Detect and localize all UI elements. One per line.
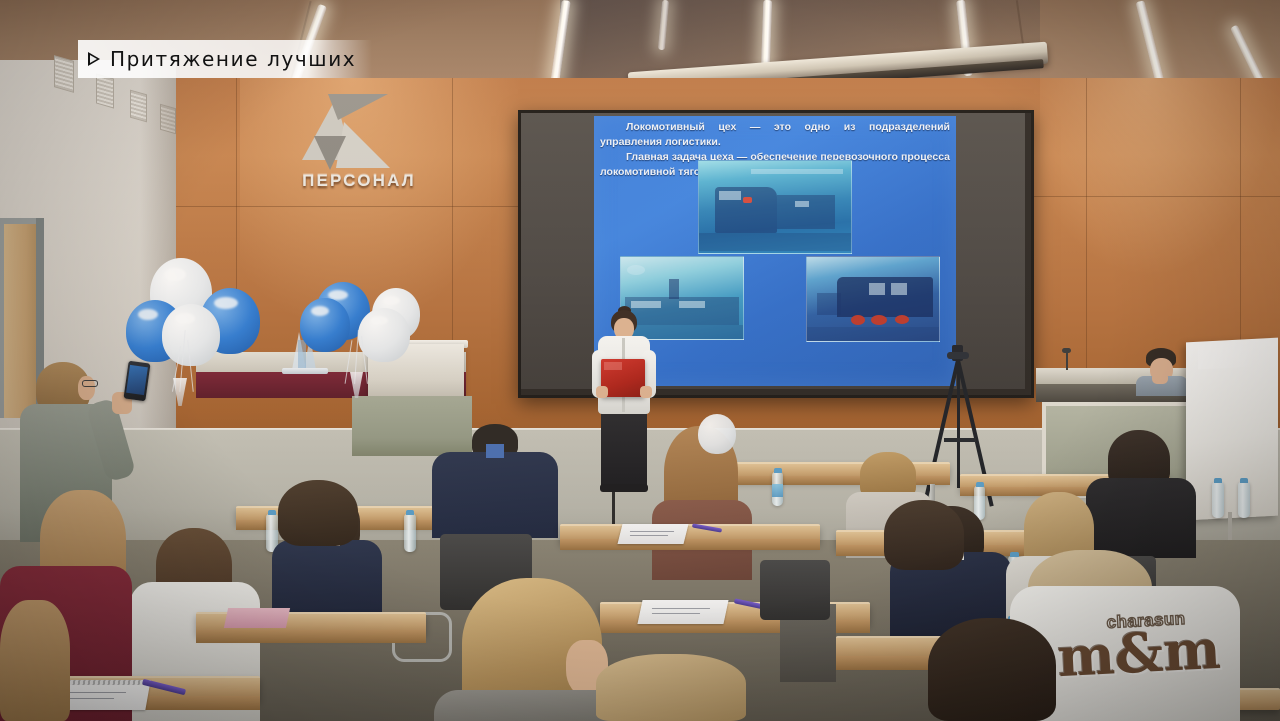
- camera-tripod-knob: [947, 352, 969, 359]
- camera-tripod-leg: [957, 360, 960, 488]
- slide-paragraph-1: Локомотивный цех — это одно из подраздел…: [600, 120, 950, 150]
- judge-hand: [1152, 372, 1168, 384]
- door[interactable]: [4, 224, 40, 418]
- desk-edge: [560, 539, 820, 550]
- audience-hair: [596, 654, 746, 721]
- sweatshirt-text-line2: m&m: [1045, 621, 1234, 685]
- notepad-line: [652, 613, 700, 614]
- chair-back[interactable]: [760, 560, 830, 620]
- video-frame: ПЕРСОНАЛ Локомотивный цех — это одно из …: [0, 0, 1280, 721]
- play-triangle-icon: [88, 52, 101, 67]
- notepad-line: [652, 608, 710, 609]
- presenter-skirt: [601, 410, 647, 488]
- microphone-head: [1062, 348, 1071, 353]
- smartphone-screen: [126, 365, 148, 395]
- audience-hair: [884, 500, 964, 570]
- notepad-line: [630, 531, 674, 532]
- panel-seam: [1240, 78, 1241, 378]
- panel-seam: [1028, 196, 1280, 197]
- audience-hair: [928, 618, 1056, 721]
- presenter-folder-highlight: [604, 362, 622, 370]
- bottle-cap: [1214, 478, 1222, 483]
- water-bottle: [404, 514, 416, 552]
- logo-shard: [328, 94, 388, 120]
- bottle-cap: [268, 510, 276, 515]
- audience-hair: [0, 600, 70, 721]
- shunting-locomotive-photo: [806, 256, 940, 342]
- bottle-label: [772, 484, 783, 497]
- panel-seam: [452, 78, 453, 368]
- camera-tripod-spreader: [944, 438, 976, 442]
- panel-seam: [176, 206, 518, 207]
- freight-train-yard-photo: [620, 256, 744, 340]
- wall-light-glow: [1040, 78, 1280, 278]
- photographer-glasses: [82, 380, 98, 387]
- notepad-line: [630, 535, 668, 536]
- flipchart-glare: [1198, 343, 1254, 370]
- audience-jacket: [1086, 478, 1196, 558]
- watermark-text: Притяжение лучших: [110, 49, 356, 69]
- ceiling-vent: [96, 73, 114, 108]
- notepad: [637, 600, 728, 624]
- balloon-white: [162, 304, 220, 366]
- presenter-left-hand: [596, 386, 608, 398]
- locomotive-depot-interior-photo: [698, 160, 852, 254]
- bottle-cap: [1240, 478, 1248, 483]
- presenter-shoes: [600, 484, 648, 492]
- wall-logo-brand-text: ПЕРСОНАЛ: [286, 172, 432, 189]
- notepad: [618, 524, 689, 544]
- water-bottle: [1238, 482, 1250, 518]
- lanyard: [486, 444, 504, 458]
- ceiling-vent: [54, 55, 74, 93]
- audience-jacket: [432, 452, 558, 538]
- balloon-white: [698, 414, 736, 454]
- bottle-cap: [406, 510, 414, 515]
- presenter-right-hand: [640, 386, 652, 398]
- bottle-cap: [774, 468, 782, 473]
- audience-hair: [278, 480, 358, 546]
- water-bottle: [1212, 482, 1224, 518]
- lectern-base-panel: [352, 396, 472, 456]
- bottle-cap: [976, 482, 984, 487]
- microphone-stem: [1066, 352, 1068, 370]
- trophy-base: [282, 368, 328, 374]
- balloon-blue: [300, 298, 350, 352]
- pink-folder: [224, 608, 290, 628]
- balloon-white: [358, 308, 410, 362]
- broadcast-watermark: Притяжение лучших: [78, 40, 372, 78]
- desk-edge: [196, 630, 426, 643]
- logo-shard: [314, 136, 346, 170]
